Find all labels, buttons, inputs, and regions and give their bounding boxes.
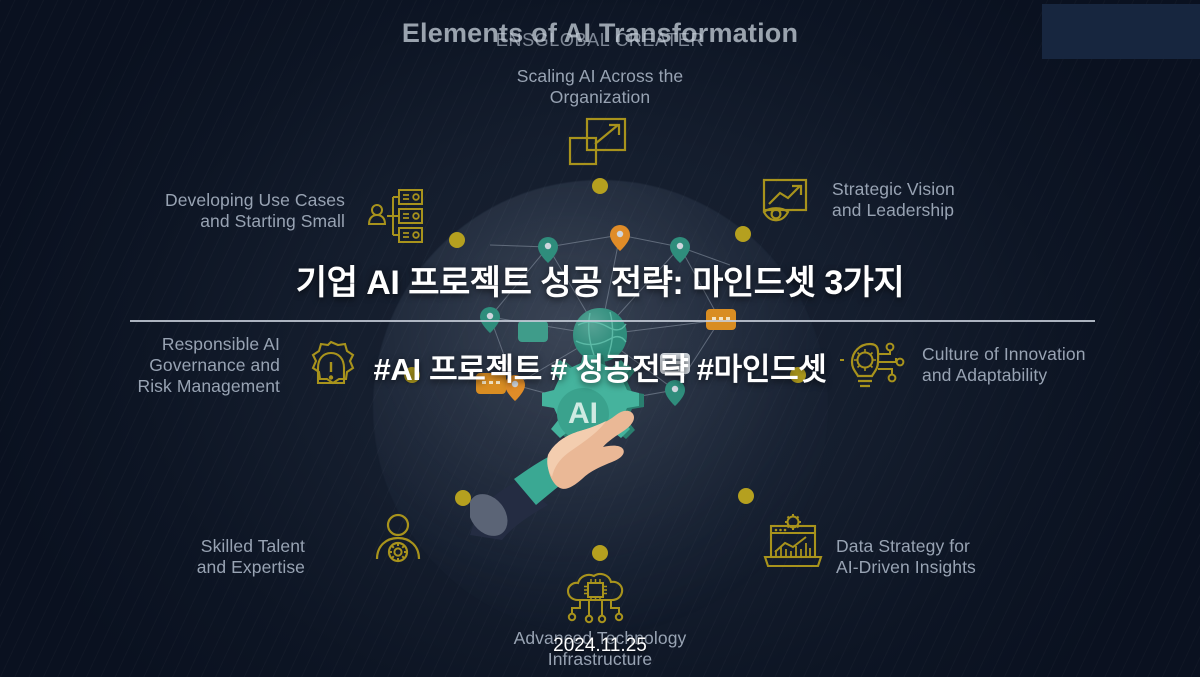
page-title: 기업 AI 프로젝트 성공 전략: 마인드셋 3가지 xyxy=(0,255,1200,304)
eye-chart-icon xyxy=(757,176,813,230)
slide-canvas: AI Scaling AI Across the Organization xyxy=(0,0,1200,677)
laptop-chart-gear-icon xyxy=(762,514,824,572)
node-label-use-cases: Developing Use Cases and Starting Small xyxy=(50,190,345,232)
gear-ai-text: AI xyxy=(568,397,598,430)
title-divider xyxy=(130,320,1095,322)
node-label-data-strategy: Data Strategy for AI-Driven Insights xyxy=(836,536,1136,578)
accent-dot xyxy=(455,490,471,506)
person-gear-icon xyxy=(369,512,427,568)
node-label-scaling: Scaling AI Across the Organization xyxy=(450,66,750,108)
node-label-skilled-talent: Skilled Talent and Expertise xyxy=(60,536,305,578)
expand-arrow-icon xyxy=(567,116,629,170)
cloud-chip-icon xyxy=(562,572,634,630)
date-stamp: 2024.11.25 xyxy=(0,635,1200,657)
node-label-strategic-vision: Strategic Vision and Leadership xyxy=(832,179,1132,221)
person-list-icon xyxy=(365,188,425,244)
hashtag-line: #AI 프로젝트 # 성공전략 #마인드셋 xyxy=(0,344,1200,389)
accent-dot xyxy=(738,488,754,504)
accent-dot xyxy=(592,545,608,561)
watermark-text: ENSGLOBAL CREATER xyxy=(0,30,1200,51)
accent-dot xyxy=(592,178,608,194)
